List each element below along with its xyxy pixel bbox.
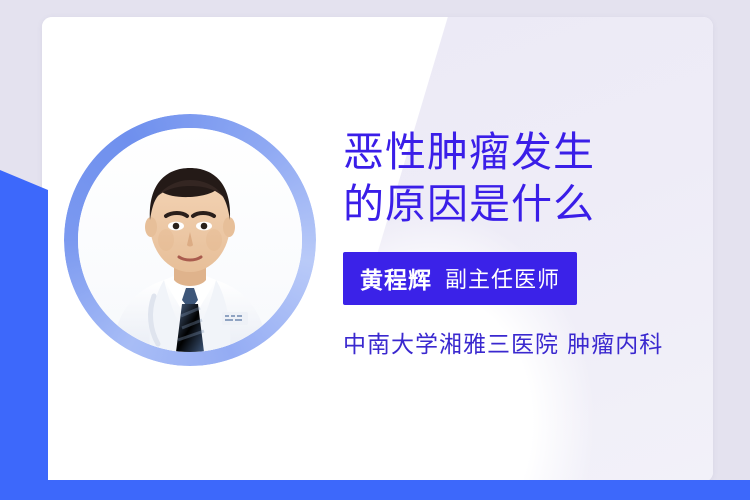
portrait-photo-mask — [78, 128, 302, 352]
left-blue-accent-bar — [0, 170, 48, 500]
page-title: 恶性肿瘤发生 的原因是什么 — [343, 126, 703, 230]
avatar — [64, 114, 316, 366]
promo-card-canvas: 恶性肿瘤发生 的原因是什么 黄程辉 副主任医师 中南大学湘雅三医院 肿瘤内科 — [0, 0, 750, 500]
doctor-name: 黄程辉 — [360, 261, 432, 295]
bottom-blue-accent-bar — [0, 480, 750, 500]
doctor-professional-title: 副主任医师 — [445, 262, 560, 294]
doctor-portrait-image — [78, 128, 302, 352]
doctor-name-badge: 黄程辉 副主任医师 — [343, 252, 577, 305]
text-column: 恶性肿瘤发生 的原因是什么 黄程辉 副主任医师 中南大学湘雅三医院 肿瘤内科 — [343, 126, 703, 359]
doctor-affiliation: 中南大学湘雅三医院 肿瘤内科 — [343, 325, 703, 359]
